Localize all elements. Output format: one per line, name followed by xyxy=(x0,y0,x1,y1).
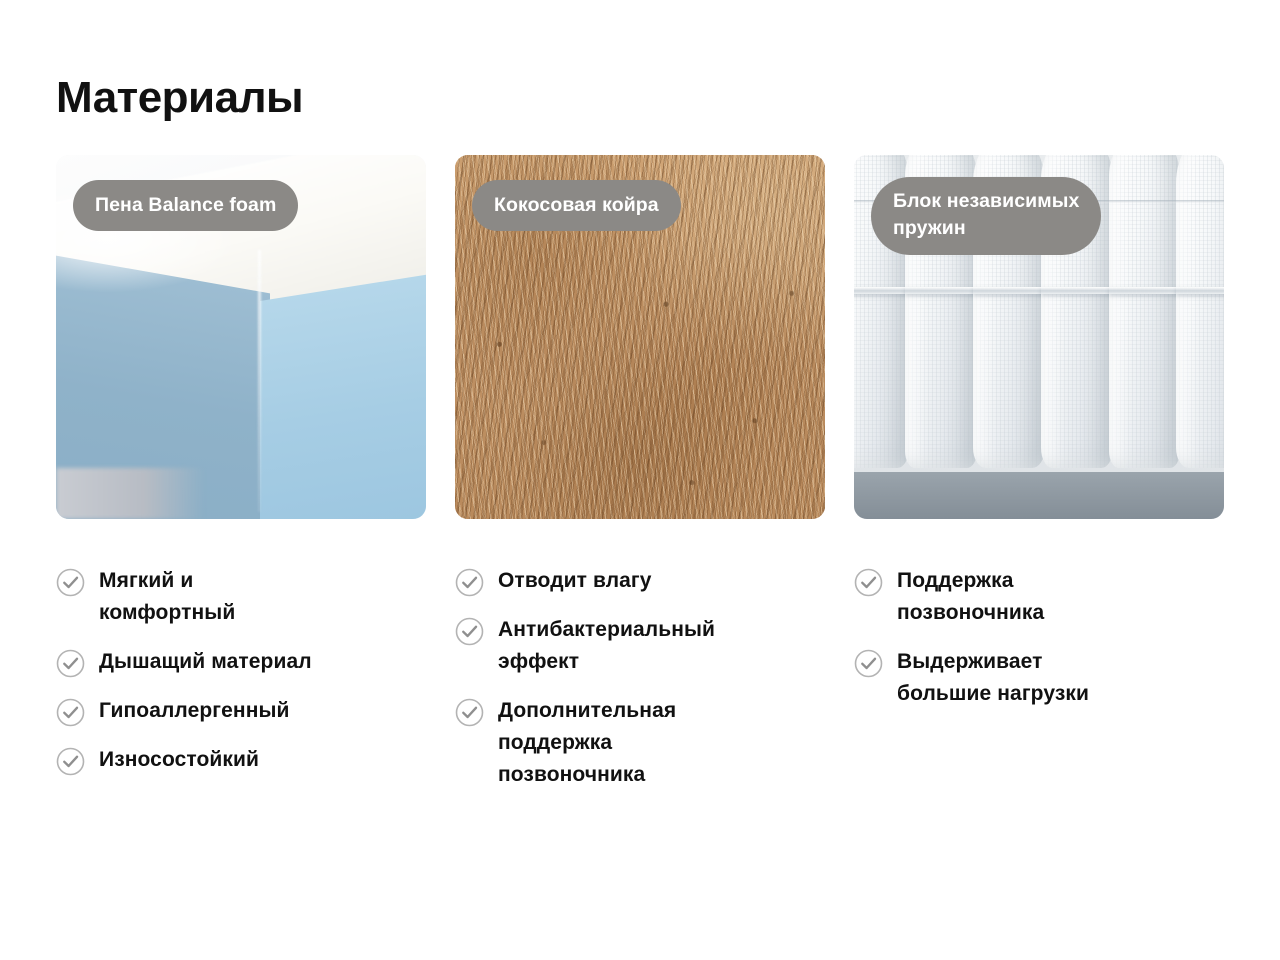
foam-corner-edge xyxy=(258,250,261,512)
feature-label: Антибактериальный эффект xyxy=(498,614,715,678)
check-circle-icon xyxy=(56,649,85,678)
card-badge-coir: Кокосовая койра xyxy=(472,180,681,231)
check-circle-icon xyxy=(455,617,484,646)
check-circle-icon xyxy=(854,649,883,678)
feature-item: Дышащий материал xyxy=(56,646,426,678)
check-circle-icon xyxy=(455,568,484,597)
foam-shadow xyxy=(56,468,204,519)
foam-right-face xyxy=(260,268,427,519)
feature-label: Гипоаллергенный xyxy=(99,695,290,727)
feature-label: Износостойкий xyxy=(99,744,259,776)
feature-item: Дополнительная поддержка позвоночника xyxy=(455,695,825,791)
check-circle-icon xyxy=(56,568,85,597)
feature-label: Поддержка позвоночника xyxy=(897,565,1044,629)
feature-label: Дышащий материал xyxy=(99,646,312,678)
feature-item: Износостойкий xyxy=(56,744,426,776)
feature-column-coir: Отводит влагу Антибактериальный эффект Д… xyxy=(455,565,825,808)
check-circle-icon xyxy=(854,568,883,597)
feature-item: Выдерживает большие нагрузки xyxy=(854,646,1224,710)
check-circle-icon xyxy=(56,747,85,776)
feature-label: Выдерживает большие нагрузки xyxy=(897,646,1089,710)
page-title: Материалы xyxy=(56,72,303,124)
pocket-spring xyxy=(1109,155,1181,468)
feature-item: Антибактериальный эффект xyxy=(455,614,825,678)
material-card-springs[interactable]: Блок независимых пружин xyxy=(854,155,1224,519)
feature-item: Мягкий и комфортный xyxy=(56,565,426,629)
pocket-spring xyxy=(1176,155,1224,468)
feature-label: Мягкий и комфортный xyxy=(99,565,235,629)
feature-item: Отводит влагу xyxy=(455,565,825,597)
card-badge-springs: Блок независимых пружин xyxy=(871,177,1101,255)
card-badge-foam: Пена Balance foam xyxy=(73,180,298,231)
features-row: Мягкий и комфортный Дышащий материал Гип… xyxy=(56,565,1224,808)
feature-label: Дополнительная поддержка позвоночника xyxy=(498,695,676,791)
feature-column-springs: Поддержка позвоночника Выдерживает больш… xyxy=(854,565,1224,808)
check-circle-icon xyxy=(455,698,484,727)
feature-item: Поддержка позвоночника xyxy=(854,565,1224,629)
springs-floor xyxy=(854,472,1224,519)
material-card-coir[interactable]: Кокосовая койра xyxy=(455,155,825,519)
feature-item: Гипоаллергенный xyxy=(56,695,426,727)
materials-slide: Материалы Пена Balance foam Кокосовая ко… xyxy=(0,0,1280,960)
materials-card-row: Пена Balance foam Кокосовая койра xyxy=(56,155,1224,519)
check-circle-icon xyxy=(56,698,85,727)
feature-column-foam: Мягкий и комфортный Дышащий материал Гип… xyxy=(56,565,426,808)
feature-label: Отводит влагу xyxy=(498,565,652,597)
material-card-foam[interactable]: Пена Balance foam xyxy=(56,155,426,519)
